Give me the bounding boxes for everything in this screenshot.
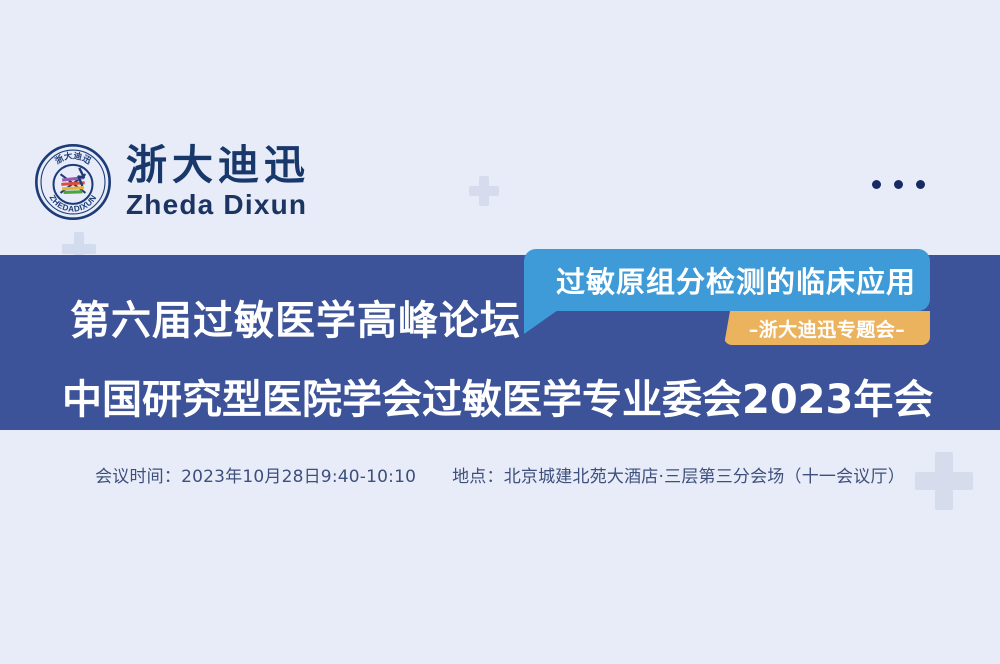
topic-speech-bubble: 过敏原组分检测的临床应用 (524, 249, 930, 311)
conference-banner: 浙大迪迅 ZHEDADIXUN 浙大迪迅 Zheda Dixun 第六届过敏医学… (0, 0, 1000, 664)
dot-group-icon (872, 180, 925, 189)
session-ribbon: –浙大迪迅专题会– (724, 311, 930, 345)
zhedadixun-emblem-icon: 浙大迪迅 ZHEDADIXUN (34, 143, 112, 221)
plus-cross-icon-middle (469, 176, 499, 206)
dot-icon (872, 180, 881, 189)
brand-name-cn: 浙大迪迅 (126, 145, 310, 186)
brand-logo: 浙大迪迅 ZHEDADIXUN 浙大迪迅 Zheda Dixun (34, 143, 310, 221)
dot-icon (916, 180, 925, 189)
headline-line-1: 第六届过敏医学高峰论坛 (70, 288, 521, 346)
brand-name-en: Zheda Dixun (126, 191, 310, 219)
event-time: 会议时间：2023年10月28日9:40-10:10 (95, 462, 416, 487)
brand-wordmark: 浙大迪迅 Zheda Dixun (126, 145, 310, 219)
session-ribbon-label: –浙大迪迅专题会– (749, 315, 906, 342)
headline-line-2: 中国研究型医院学会过敏医学专业委会2023年会 (62, 367, 933, 425)
event-location: 地点：北京城建北苑大酒店·三层第三分会场（十一会议厅） (452, 462, 905, 487)
speech-bubble-tail (524, 310, 558, 334)
topic-title: 过敏原组分检测的临床应用 (538, 259, 916, 301)
event-info-strip: 会议时间：2023年10月28日9:40-10:10 地点：北京城建北苑大酒店·… (0, 462, 1000, 487)
dot-icon (894, 180, 903, 189)
